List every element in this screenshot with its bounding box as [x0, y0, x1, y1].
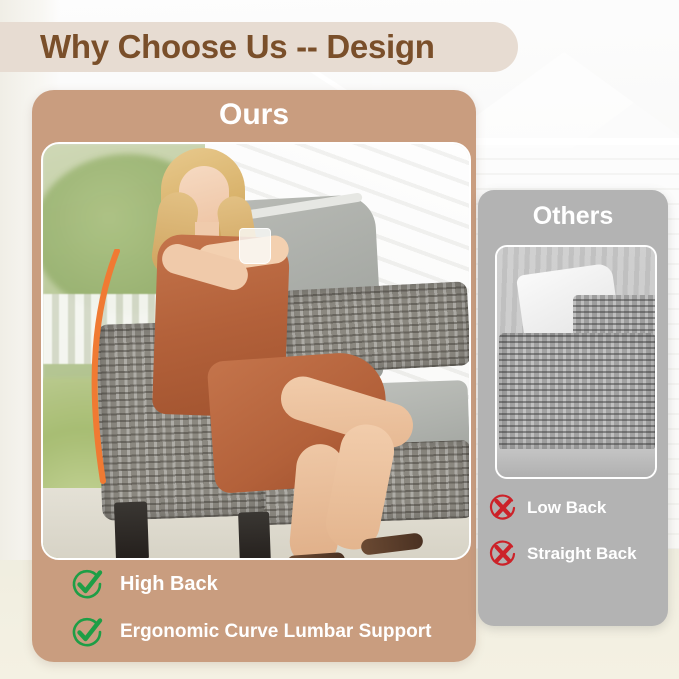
ours-feature-item-lumbar-support: Ergonomic Curve Lumbar Support — [32, 608, 476, 656]
page-title-banner: Why Choose Us -- Design — [0, 22, 518, 72]
x-circle-icon — [488, 493, 518, 523]
others-photo-floor — [497, 449, 655, 477]
others-panel: Others Low Back Straight Back — [478, 190, 668, 626]
lumbar-curve-accent-icon — [83, 249, 127, 484]
x-circle-icon — [488, 539, 518, 569]
ours-panel-title: Ours — [32, 98, 476, 132]
ours-product-photo — [41, 142, 471, 560]
ours-feature-item-high-back: High Back — [32, 560, 476, 608]
others-feature-item-straight-back: Straight Back — [478, 531, 668, 577]
others-panel-title: Others — [478, 202, 668, 231]
ours-feature-label: Ergonomic Curve Lumbar Support — [120, 621, 431, 643]
others-sofa-body — [499, 333, 655, 451]
others-feature-item-low-back: Low Back — [478, 485, 668, 531]
model-drinking-glass — [239, 228, 271, 264]
chair-front-left-leg — [114, 501, 149, 558]
check-circle-icon — [70, 615, 104, 649]
others-feature-label: Low Back — [527, 498, 606, 518]
check-circle-icon — [70, 567, 104, 601]
chair-front-right-leg — [238, 511, 271, 558]
page-title: Why Choose Us -- Design — [40, 28, 435, 66]
ours-panel: Ours — [32, 90, 476, 662]
others-feature-list: Low Back Straight Back — [478, 485, 668, 577]
ours-feature-list: High Back Ergonomic Curve Lumbar Support — [32, 560, 476, 656]
ours-feature-label: High Back — [120, 573, 218, 596]
others-photo-scene — [497, 247, 655, 477]
others-product-photo — [495, 245, 657, 479]
others-feature-label: Straight Back — [527, 544, 637, 564]
ours-photo-scene — [43, 144, 469, 558]
